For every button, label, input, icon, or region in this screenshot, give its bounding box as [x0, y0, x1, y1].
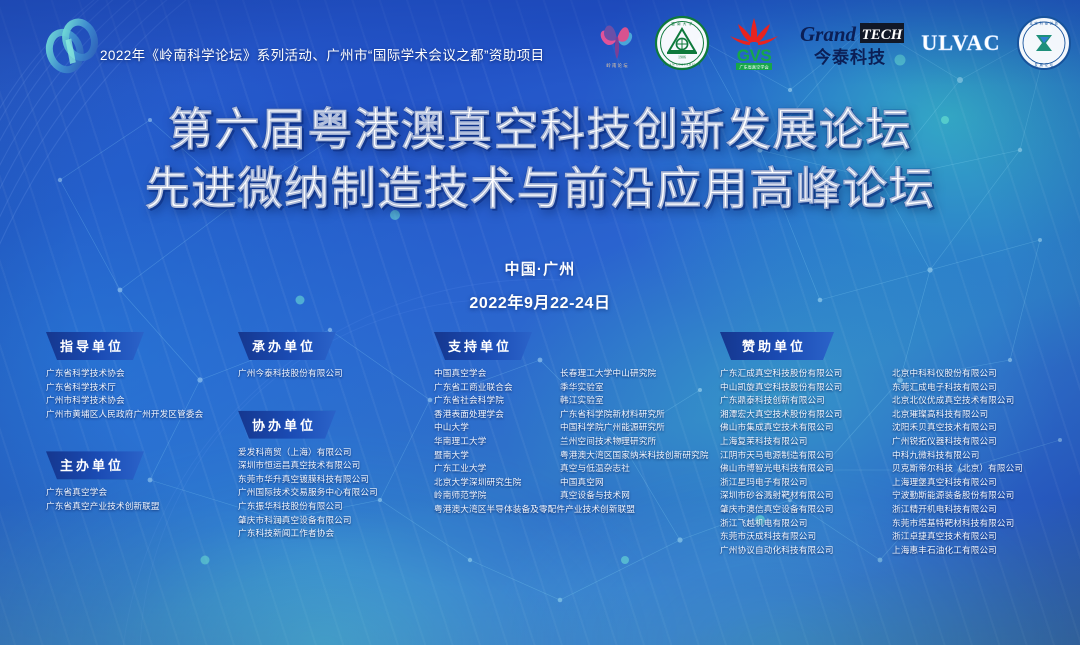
list-item: 江阴市天马电源制造有限公司 — [720, 449, 884, 463]
partner-logo-strip: 岭 南 论 坛 1906 JINAN UNIVERSITY 暨 南 大 学 — [594, 10, 1072, 76]
ulvac-logo: ULVAC — [920, 13, 1002, 73]
list-item: 广州今泰科技股份有限公司 — [238, 367, 434, 381]
svg-text:广东省真空学会: 广东省真空学会 — [739, 64, 769, 71]
svg-text:ULVAC: ULVAC — [921, 30, 1000, 55]
jinan-university-logo: 1906 JINAN UNIVERSITY 暨 南 大 学 — [654, 13, 710, 73]
list-item: 广州协议自动化科技有限公司 — [720, 544, 884, 558]
sponsor-list-right: 北京中科科仪股份有限公司 东莞汇成电子科技有限公司 北京北仪优成真空技术有限公司… — [892, 367, 1072, 557]
section-organizer: 承办单位 广州今泰科技股份有限公司 — [238, 332, 434, 381]
svg-text:1906: 1906 — [678, 55, 686, 60]
column-sponsor: 赞助单位 广东汇成真空科技股份有限公司 中山凯旋真空科技股份有限公司 广东鼎泰科… — [720, 332, 1072, 557]
list-item: 华南理工大学 — [434, 435, 552, 449]
list-item: 佛山市集成真空技术有限公司 — [720, 421, 884, 435]
list-item: 北京中科科仪股份有限公司 — [892, 367, 1072, 381]
list-item: 真空与低温杂志社 — [560, 462, 732, 476]
section-heading-coorganizer: 协办单位 — [238, 411, 336, 439]
title-line-1: 第六届粤港澳真空科技创新发展论坛 — [0, 100, 1080, 159]
svg-text:Grand: Grand — [800, 22, 857, 46]
poster-header: 2022年《岭南科学论坛》系列活动、广州市“国际学术会议之都”资助项目 岭 南 … — [0, 0, 1080, 86]
list-item: 广州市科学技术协会 — [46, 394, 238, 408]
list-item: 北京大学深圳研究生院 — [434, 476, 552, 490]
list-item: 浙江飞越机电有限公司 — [720, 517, 884, 531]
list-item: 韩江实验室 — [560, 394, 732, 408]
list-item: 深圳市恒运昌真空技术有限公司 — [238, 459, 434, 473]
list-item: 季华实验室 — [560, 381, 732, 395]
support-list-full: 粤港澳大湾区半导体装备及零配件产业技术创新联盟 — [434, 503, 720, 517]
list-item: 广东省真空学会 — [46, 486, 238, 500]
event-date: 2022年9月22-24日 — [0, 289, 1080, 313]
list-item: 浙江卓捷真空技术有限公司 — [892, 530, 1072, 544]
list-item: 广东省科学技术厅 — [46, 381, 238, 395]
list-item: 佛山市博智光电科技有限公司 — [720, 462, 884, 476]
column-organizer-coorganizer: 承办单位 广州今泰科技股份有限公司 协办单位 爱发科商贸（上海）有限公司 深圳市… — [238, 332, 434, 541]
section-heading-guidance: 指导单位 — [46, 332, 144, 360]
svg-text:真 空 科 技 创 新: 真 空 科 技 创 新 — [1029, 21, 1058, 26]
list-item: 中国真空网 — [560, 476, 732, 490]
column-support: 支持单位 中国真空学会 广东省工商业联合会 广东省社会科学院 香港表面处理学会 … — [434, 332, 720, 517]
list-item: 广东振华科技股份有限公司 — [238, 500, 434, 514]
vacuum-association-seal-logo: 真 空 科 技 创 新 发 展 论 坛 — [1016, 13, 1072, 73]
list-item: 广东汇成真空科技股份有限公司 — [720, 367, 884, 381]
svg-text:今泰科技: 今泰科技 — [814, 47, 886, 67]
list-item: 贝克斯帝尔科技（北京）有限公司 — [892, 462, 1072, 476]
section-sponsor: 赞助单位 广东汇成真空科技股份有限公司 中山凯旋真空科技股份有限公司 广东鼎泰科… — [720, 332, 1072, 557]
list-item: 沈阳禾贝真空技术有限公司 — [892, 421, 1072, 435]
list-item: 广州市黄埔区人民政府广州开发区管委会 — [46, 408, 238, 422]
list-item: 上海惠丰石油化工有限公司 — [892, 544, 1072, 558]
coorganizer-list: 爱发科商贸（上海）有限公司 深圳市恒运昌真空技术有限公司 东莞市华升真空镀膜科技… — [238, 446, 434, 541]
event-city: 中国·广州 — [0, 258, 1080, 279]
svg-text:GVS: GVS — [737, 46, 772, 65]
list-item: 广东省科学技术协会 — [46, 367, 238, 381]
column-guidance-host: 指导单位 广东省科学技术协会 广东省科学技术厅 广州市科学技术协会 广州市黄埔区… — [46, 332, 238, 514]
list-item: 广东工业大学 — [434, 462, 552, 476]
list-item: 北京北仪优成真空技术有限公司 — [892, 394, 1072, 408]
list-item: 宁波勤斯能源装备股份有限公司 — [892, 489, 1072, 503]
list-item: 东莞市沃成科技有限公司 — [720, 530, 884, 544]
list-item: 浙江精开机电科技有限公司 — [892, 503, 1072, 517]
list-item: 岭南师范学院 — [434, 489, 552, 503]
sponsor-line: 2022年《岭南科学论坛》系列活动、广州市“国际学术会议之都”资助项目 — [100, 44, 545, 64]
svg-text:TECH: TECH — [862, 27, 904, 43]
gvs-logo: GVS 广东省真空学会 — [724, 13, 784, 73]
host-list: 广东省真空学会 广东省真空产业技术创新联盟 — [46, 486, 238, 513]
list-item: 湘潭宏大真空技术股份有限公司 — [720, 408, 884, 422]
poster-title: 第六届粤港澳真空科技创新发展论坛 先进微纳制造技术与前沿应用高峰论坛 — [0, 100, 1080, 219]
guidance-list: 广东省科学技术协会 广东省科学技术厅 广州市科学技术协会 广州市黄埔区人民政府广… — [46, 367, 238, 421]
list-item: 广东省真空产业技术创新联盟 — [46, 500, 238, 514]
list-item: 北京璀璨高科技有限公司 — [892, 408, 1072, 422]
list-item: 广东省科学院新材料研究所 — [560, 408, 732, 422]
svg-text:发 展 论 坛: 发 展 论 坛 — [1035, 62, 1054, 67]
list-item: 上海复茉科技有限公司 — [720, 435, 884, 449]
list-item: 兰州空间技术物理研究所 — [560, 435, 732, 449]
grandtech-logo: Grand TECH 今泰科技 — [798, 13, 906, 73]
support-list-right: 长春理工大学中山研究院 季华实验室 韩江实验室 广东省科学院新材料研究所 中国科… — [560, 367, 732, 503]
list-item: 广东科技新闻工作者协会 — [238, 527, 434, 541]
conference-poster: 2022年《岭南科学论坛》系列活动、广州市“国际学术会议之都”资助项目 岭 南 … — [0, 0, 1080, 645]
section-heading-support: 支持单位 — [434, 332, 532, 360]
section-coorganizer: 协办单位 爱发科商贸（上海）有限公司 深圳市恒运昌真空技术有限公司 东莞市华升真… — [238, 411, 434, 541]
list-item: 粤港澳大湾区国家纳米科技创新研究院 — [560, 449, 732, 463]
section-heading-host: 主办单位 — [46, 451, 144, 479]
organizer-list: 广州今泰科技股份有限公司 — [238, 367, 434, 381]
svg-text:JINAN UNIVERSITY: JINAN UNIVERSITY — [663, 63, 701, 67]
list-item: 香港表面处理学会 — [434, 408, 552, 422]
organizations-area: 指导单位 广东省科学技术协会 广东省科学技术厅 广州市科学技术协会 广州市黄埔区… — [0, 332, 1080, 611]
section-heading-sponsor: 赞助单位 — [720, 332, 834, 360]
list-item: 东莞市华升真空镀膜科技有限公司 — [238, 473, 434, 487]
list-item: 中山凯旋真空科技股份有限公司 — [720, 381, 884, 395]
lingnan-forum-logo: 岭 南 论 坛 — [594, 13, 640, 73]
section-heading-organizer: 承办单位 — [238, 332, 336, 360]
list-item: 爱发科商贸（上海）有限公司 — [238, 446, 434, 460]
event-meta: 中国·广州 2022年9月22-24日 — [0, 258, 1080, 313]
list-item: 真空设备与技术网 — [560, 489, 732, 503]
list-item: 上海理堡真空科技有限公司 — [892, 476, 1072, 490]
section-host: 主办单位 广东省真空学会 广东省真空产业技术创新联盟 — [46, 451, 238, 513]
sponsor-list-left: 广东汇成真空科技股份有限公司 中山凯旋真空科技股份有限公司 广东鼎泰科技创新有限… — [720, 367, 884, 557]
svg-text:暨 南 大 学: 暨 南 大 学 — [671, 21, 693, 26]
section-guidance: 指导单位 广东省科学技术协会 广东省科学技术厅 广州市科学技术协会 广州市黄埔区… — [46, 332, 238, 421]
svg-text:岭 南 论 坛: 岭 南 论 坛 — [606, 62, 628, 69]
list-item: 长春理工大学中山研究院 — [560, 367, 732, 381]
list-item: 广东省工商业联合会 — [434, 381, 552, 395]
list-item: 中国真空学会 — [434, 367, 552, 381]
list-item: 浙江星玛电子有限公司 — [720, 476, 884, 490]
list-item: 中国科学院广州能源研究所 — [560, 421, 732, 435]
list-item: 肇庆市澳信真空设备有限公司 — [720, 503, 884, 517]
list-item: 中山大学 — [434, 421, 552, 435]
list-item: 广东鼎泰科技创新有限公司 — [720, 394, 884, 408]
list-item: 粤港澳大湾区半导体装备及零配件产业技术创新联盟 — [434, 503, 720, 517]
title-line-2: 先进微纳制造技术与前沿应用高峰论坛 — [0, 159, 1080, 218]
list-item: 暨南大学 — [434, 449, 552, 463]
support-list-left: 中国真空学会 广东省工商业联合会 广东省社会科学院 香港表面处理学会 中山大学 … — [434, 367, 552, 503]
list-item: 广东省社会科学院 — [434, 394, 552, 408]
list-item: 中科九微科技有限公司 — [892, 449, 1072, 463]
section-support: 支持单位 中国真空学会 广东省工商业联合会 广东省社会科学院 香港表面处理学会 … — [434, 332, 720, 517]
list-item: 东莞市塔基特靶材科技有限公司 — [892, 517, 1072, 531]
list-item: 东莞汇成电子科技有限公司 — [892, 381, 1072, 395]
list-item: 广州国际技术交易服务中心有限公司 — [238, 486, 434, 500]
list-item: 广州锐拓仪器科技有限公司 — [892, 435, 1072, 449]
list-item: 深圳市砂谷溅射靶材有限公司 — [720, 489, 884, 503]
list-item: 肇庆市科润真空设备有限公司 — [238, 514, 434, 528]
